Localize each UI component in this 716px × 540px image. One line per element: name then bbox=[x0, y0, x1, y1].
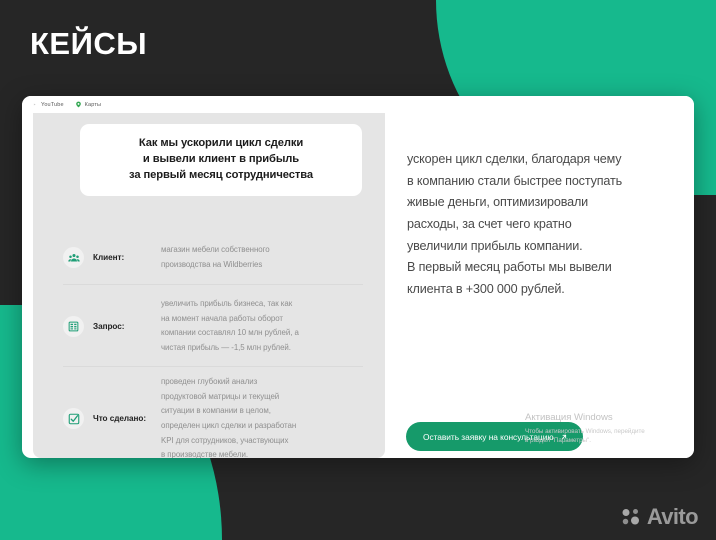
case-result-panel: ускорен цикл сделки, благодаря чему в ко… bbox=[385, 113, 694, 458]
browser-bookmark-bar[interactable]: YouTube Карты bbox=[22, 96, 694, 113]
youtube-favicon bbox=[31, 101, 38, 108]
people-group-icon bbox=[63, 247, 84, 268]
avito-logo: Avito bbox=[621, 506, 698, 528]
spreadsheet-glyph bbox=[68, 321, 79, 332]
case-row-value: проведен глубокий анализ продуктовой мат… bbox=[161, 375, 296, 458]
case-headline-card: Как мы ускорили цикл сделки и вывели кли… bbox=[80, 124, 362, 196]
bookmark-label: YouTube bbox=[41, 102, 64, 108]
result-description: ускорен цикл сделки, благодаря чему в ко… bbox=[407, 149, 692, 301]
case-row-value: увеличить прибыль бизнеса, так как на мо… bbox=[161, 297, 299, 356]
case-row-client: Клиент: магазин мебели собственного прои… bbox=[63, 243, 363, 272]
row-divider bbox=[63, 284, 363, 285]
bookmark-label: Карты bbox=[85, 102, 101, 108]
cta-label: Оставить заявку на консультацию bbox=[423, 432, 554, 442]
case-summary-panel: Как мы ускорили цикл сделки и вывели кли… bbox=[33, 113, 385, 458]
checkbox-check-glyph bbox=[68, 413, 80, 425]
consultation-request-button[interactable]: Оставить заявку на консультацию bbox=[406, 422, 583, 451]
case-row-label: Запрос: bbox=[93, 322, 161, 331]
browser-window: YouTube Карты Как мы ускорили цикл сделк… bbox=[22, 96, 694, 458]
case-headline: Как мы ускорили цикл сделки и вывели кли… bbox=[129, 136, 313, 184]
case-row-actions: Что сделано: проведен глубокий анализ пр… bbox=[63, 375, 363, 458]
checkbox-check-icon bbox=[63, 408, 84, 429]
case-row-value: магазин мебели собственного производства… bbox=[161, 243, 270, 272]
bookmark-maps[interactable]: Карты bbox=[75, 101, 101, 108]
spreadsheet-icon bbox=[63, 316, 84, 337]
case-row-request: Запрос: увеличить прибыль бизнеса, так к… bbox=[63, 297, 363, 356]
arrow-up-right-icon bbox=[560, 433, 568, 441]
bookmark-youtube[interactable]: YouTube bbox=[31, 101, 64, 108]
avito-wordmark: Avito bbox=[647, 506, 698, 528]
case-row-label: Что сделано: bbox=[93, 414, 161, 423]
row-divider bbox=[63, 366, 363, 367]
avito-dots-logo bbox=[621, 507, 643, 527]
maps-pin-favicon bbox=[75, 101, 82, 108]
page-title: КЕЙСЫ bbox=[30, 28, 147, 59]
slide-canvas: КЕЙСЫ YouTube Карты Как мы уско bbox=[0, 0, 716, 540]
case-row-label: Клиент: bbox=[93, 253, 161, 262]
people-group-glyph bbox=[68, 252, 80, 264]
